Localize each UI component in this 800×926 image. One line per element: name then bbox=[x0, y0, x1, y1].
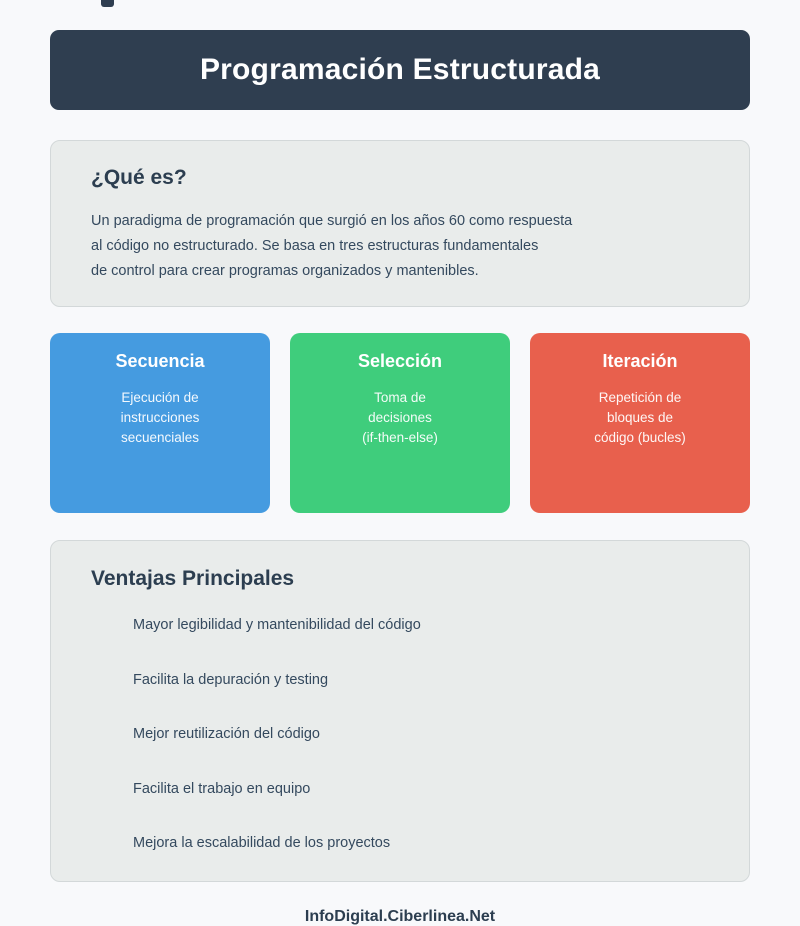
advantages-heading: Ventajas Principales bbox=[91, 566, 729, 591]
concept-card-iteracion[interactable]: Iteración Repetición de bloques de códig… bbox=[530, 333, 750, 513]
footer-brand: InfoDigital.Ciberlinea.Net bbox=[50, 908, 750, 926]
concept-card-seleccion[interactable]: Selección Toma de decisiones (if-then-el… bbox=[290, 333, 510, 513]
advantages-list: Mayor legibilidad y mantenibilidad del c… bbox=[91, 618, 729, 851]
concept-title-seleccion: Selección bbox=[302, 351, 498, 373]
definition-line-2: al código no estructurado. Se basa en tr… bbox=[91, 234, 729, 259]
concept-card-secuencia[interactable]: Secuencia Ejecución de instrucciones sec… bbox=[50, 333, 270, 513]
concept-desc-line: instrucciones bbox=[62, 408, 258, 428]
list-item: Mayor legibilidad y mantenibilidad del c… bbox=[91, 618, 729, 633]
page-title: Programación Estructurada bbox=[200, 55, 600, 85]
concept-description-secuencia: Ejecución de instrucciones secuenciales bbox=[62, 388, 258, 448]
concept-cards-row: Secuencia Ejecución de instrucciones sec… bbox=[50, 333, 750, 513]
concept-desc-line: bloques de bbox=[542, 408, 738, 428]
list-item: Facilita la depuración y testing bbox=[91, 673, 729, 688]
concept-description-iteracion: Repetición de bloques de código (bucles) bbox=[542, 388, 738, 448]
concept-desc-line: Repetición de bbox=[542, 388, 738, 408]
definition-card: ¿Qué es? Un paradigma de programación qu… bbox=[50, 140, 750, 307]
list-item: Mejor reutilización del código bbox=[91, 727, 729, 742]
concept-description-seleccion: Toma de decisiones (if-then-else) bbox=[302, 388, 498, 448]
concept-desc-line: código (bucles) bbox=[542, 428, 738, 448]
concept-title-secuencia: Secuencia bbox=[62, 351, 258, 373]
definition-line-1: Un paradigma de programación que surgió … bbox=[91, 209, 729, 234]
concept-desc-line: Ejecución de bbox=[62, 388, 258, 408]
concept-desc-line: secuenciales bbox=[62, 428, 258, 448]
concept-desc-line: (if-then-else) bbox=[302, 428, 498, 448]
definition-text: Un paradigma de programación que surgió … bbox=[91, 209, 729, 284]
infographic-page: Programación Estructurada ¿Qué es? Un pa… bbox=[0, 0, 800, 899]
header-banner: Programación Estructurada bbox=[50, 30, 750, 110]
definition-line-3: de control para crear programas organiza… bbox=[91, 259, 729, 284]
definition-heading: ¿Qué es? bbox=[91, 165, 729, 190]
concept-desc-line: Toma de bbox=[302, 388, 498, 408]
advantages-card: Ventajas Principales Mayor legibilidad y… bbox=[50, 540, 750, 882]
list-item: Facilita el trabajo en equipo bbox=[91, 782, 729, 797]
concept-title-iteracion: Iteración bbox=[542, 351, 738, 373]
list-item: Mejora la escalabilidad de los proyectos bbox=[91, 836, 729, 851]
concept-desc-line: decisiones bbox=[302, 408, 498, 428]
